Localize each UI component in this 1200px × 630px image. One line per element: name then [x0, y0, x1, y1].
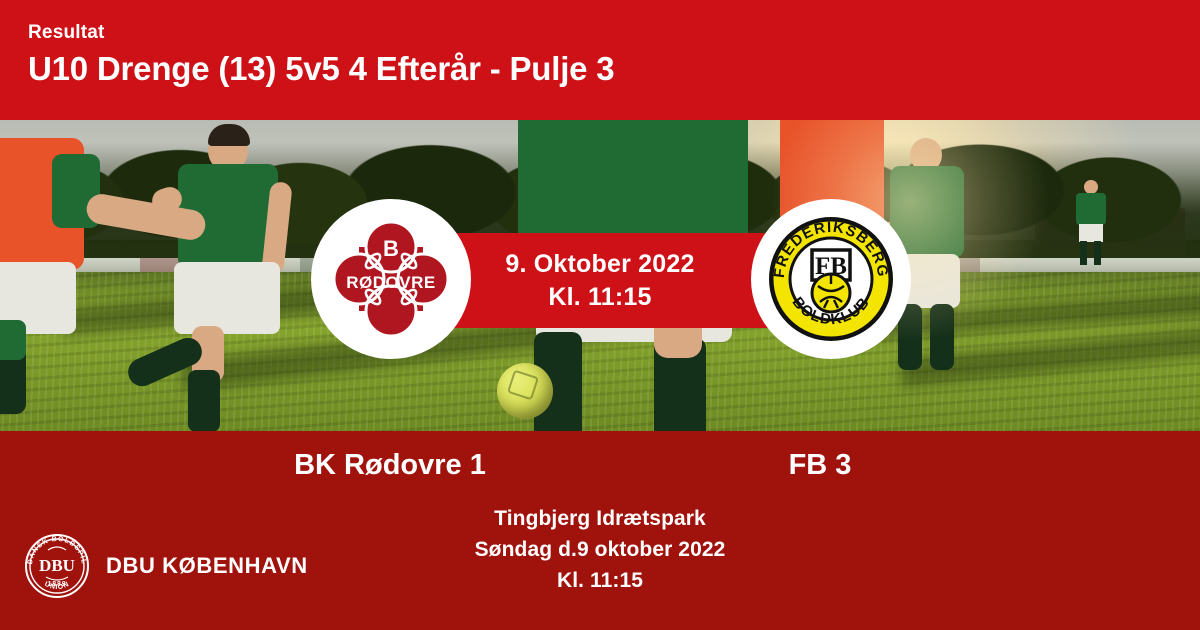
venue-name: Tingbjerg Idrætspark — [300, 503, 900, 534]
header-kicker: Resultat — [28, 22, 1172, 44]
match-date: 9. Oktober 2022 — [505, 248, 694, 281]
svg-text:1889: 1889 — [48, 581, 67, 588]
result-row: BK Rødovre 1 FB 3 — [0, 443, 1200, 493]
poster-footer: BK Rødovre 1 FB 3 Tingbjerg Idrætspark S… — [0, 431, 1200, 630]
venue-date: Søndag d.9 oktober 2022 — [300, 534, 900, 565]
venue-time: Kl. 11:15 — [300, 565, 900, 596]
dbu-brand[interactable]: DANSK BOLDSPIL UNION DBU 1889 DBU KØBENH… — [24, 533, 308, 599]
venue-details: Tingbjerg Idrætspark Søndag d.9 oktober … — [300, 503, 900, 596]
away-team-crest[interactable]: FREDERIKSBERG BOLDKLUB FB — [751, 199, 911, 359]
match-time: Kl. 11:15 — [548, 281, 651, 314]
svg-text:B: B — [383, 236, 399, 261]
football-ball — [497, 363, 553, 419]
dbu-seal-logo-icon: DANSK BOLDSPIL UNION DBU 1889 — [24, 533, 90, 599]
home-result: BK Rødovre 1 — [180, 443, 600, 487]
player-far-right — [1068, 180, 1112, 280]
svg-text:DBU: DBU — [39, 556, 75, 575]
fb-frederiksberg-boldklub-crest-icon: FREDERIKSBERG BOLDKLUB FB — [766, 214, 896, 344]
bk-rodovre-crest-icon: B RØDOVRE — [328, 216, 454, 342]
match-result-poster: Resultat U10 Drenge (13) 5v5 4 Efterår -… — [0, 0, 1200, 630]
poster-header: Resultat U10 Drenge (13) 5v5 4 Efterår -… — [0, 0, 1200, 120]
home-team-crest[interactable]: B RØDOVRE — [311, 199, 471, 359]
dbu-wordmark: DBU KØBENHAVN — [106, 554, 308, 578]
page-title: U10 Drenge (13) 5v5 4 Efterår - Pulje 3 — [28, 48, 1172, 90]
player-foreground-left-orange — [0, 120, 168, 431]
svg-text:RØDOVRE: RØDOVRE — [346, 273, 435, 292]
away-result: FB 3 — [620, 443, 1020, 487]
